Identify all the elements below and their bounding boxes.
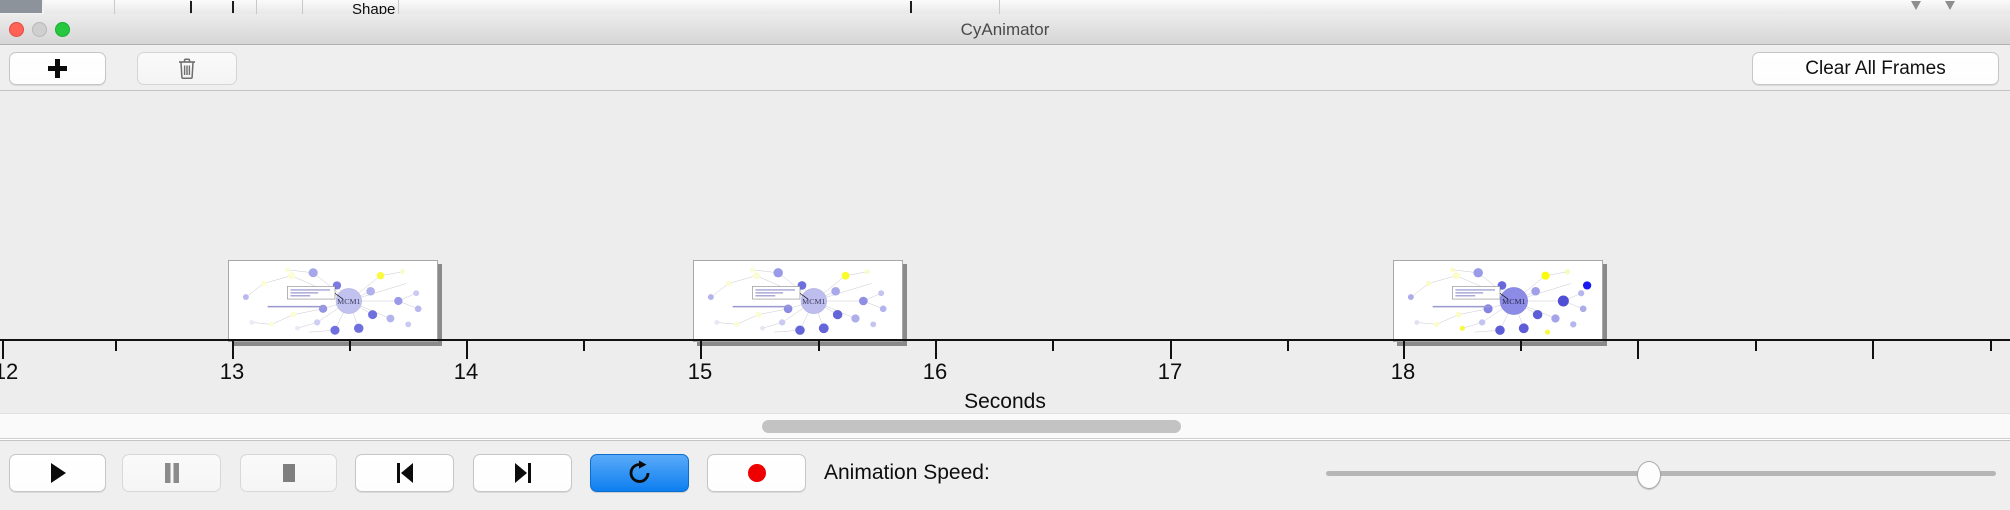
- background-segment: [44, 0, 115, 14]
- axis-tick-label: 14: [454, 359, 478, 385]
- play-button[interactable]: [9, 454, 106, 492]
- axis-tick-minor: [115, 341, 117, 351]
- trash-icon: [178, 58, 196, 79]
- close-button[interactable]: [9, 22, 24, 37]
- cyanimator-window: Shape CyAnimator Clear All Frames: [0, 0, 2010, 510]
- skip-backward-button[interactable]: [355, 454, 454, 492]
- axis-tick-label: 15: [688, 359, 712, 385]
- axis-tick-minor: [818, 341, 820, 351]
- axis-tick-minor: [583, 341, 585, 351]
- stop-icon: [280, 462, 298, 484]
- animation-speed-label: Animation Speed:: [824, 454, 990, 492]
- network-graph: MCM1: [1397, 264, 1599, 338]
- svg-text:MCM1: MCM1: [802, 297, 825, 306]
- pause-button[interactable]: [122, 454, 221, 492]
- record-button[interactable]: [707, 454, 806, 492]
- background-tick: [232, 1, 234, 13]
- axis-tick-major: [232, 341, 234, 359]
- axis-tick-label: 16: [923, 359, 947, 385]
- loop-icon: [628, 460, 652, 486]
- window-title: CyAnimator: [0, 14, 2010, 45]
- background-triangle-icon: [1911, 1, 1921, 10]
- axis-tick-label: 17: [1158, 359, 1182, 385]
- axis-tick-minor: [1287, 341, 1289, 351]
- network-preview: MCM1: [697, 264, 899, 338]
- axis-tick-label: 13: [220, 359, 244, 385]
- skip-forward-button[interactable]: [473, 454, 572, 492]
- network-graph: MCM1: [697, 264, 899, 338]
- background-segment: [1000, 0, 2010, 14]
- traffic-lights: [9, 22, 70, 37]
- delete-frame-button[interactable]: [137, 52, 237, 85]
- background-window-dark-segment: [0, 0, 42, 13]
- frame-thumbnail-3[interactable]: MCM1: [1393, 260, 1603, 342]
- background-window-label: Shape: [352, 1, 395, 15]
- axis-tick-label: 12: [0, 359, 18, 385]
- skip-backward-icon: [395, 462, 415, 484]
- axis-tick-major: [1872, 341, 1874, 359]
- record-icon: [746, 462, 768, 484]
- background-window-strip: Shape: [0, 0, 2010, 15]
- clear-all-frames-label: Clear All Frames: [1805, 58, 1945, 80]
- slider-track[interactable]: [1326, 471, 1996, 476]
- network-graph: MCM1: [232, 264, 434, 338]
- timeline-scrollbar[interactable]: [0, 413, 2010, 439]
- axis-tick-minor: [1990, 341, 1992, 351]
- axis-tick-major: [1637, 341, 1639, 359]
- axis-title: Seconds: [0, 390, 2010, 413]
- background-segment: [115, 0, 191, 14]
- toolbar: Clear All Frames: [0, 45, 2010, 91]
- animation-speed-slider[interactable]: [1326, 454, 1996, 492]
- play-icon: [48, 462, 68, 484]
- loop-button[interactable]: [590, 454, 689, 492]
- add-frame-button[interactable]: [9, 52, 106, 85]
- skip-forward-icon: [513, 462, 533, 484]
- network-preview: MCM1: [232, 264, 434, 338]
- plus-icon: [48, 59, 67, 78]
- axis-tick-major: [935, 341, 937, 359]
- axis-tick-minor: [349, 341, 351, 351]
- stop-button[interactable]: [240, 454, 337, 492]
- timeline-axis: [0, 339, 2010, 341]
- slider-thumb[interactable]: [1637, 461, 1661, 489]
- pause-icon: [163, 462, 181, 484]
- axis-tick-minor: [1755, 341, 1757, 351]
- svg-text:MCM1: MCM1: [1502, 297, 1525, 306]
- axis-tick-minor: [1052, 341, 1054, 351]
- svg-text:MCM1: MCM1: [337, 297, 360, 306]
- background-segment: [257, 0, 303, 14]
- frame-thumbnail-1[interactable]: MCM1: [228, 260, 438, 342]
- scrollbar-thumb[interactable]: [762, 420, 1181, 433]
- axis-tick-major: [1403, 341, 1405, 359]
- clear-all-frames-button[interactable]: Clear All Frames: [1752, 52, 1999, 85]
- axis-tick-major: [700, 341, 702, 359]
- axis-tick-major: [466, 341, 468, 359]
- axis-tick-major: [2, 341, 4, 359]
- zoom-button[interactable]: [55, 22, 70, 37]
- axis-tick-label: 18: [1391, 359, 1415, 385]
- network-preview: MCM1: [1397, 264, 1599, 338]
- axis-tick-major: [1170, 341, 1172, 359]
- background-tick: [910, 1, 912, 13]
- playback-control-bar: Animation Speed:: [0, 440, 2010, 510]
- background-segment: [191, 0, 257, 14]
- axis-tick-minor: [1520, 341, 1522, 351]
- background-triangle-icon: [1945, 1, 1955, 10]
- minimize-button[interactable]: [32, 22, 47, 37]
- frame-thumbnail-2[interactable]: MCM1: [693, 260, 903, 342]
- title-bar: CyAnimator: [0, 14, 2010, 45]
- timeline-panel[interactable]: MCM1: [0, 91, 2010, 413]
- background-tick: [190, 1, 192, 13]
